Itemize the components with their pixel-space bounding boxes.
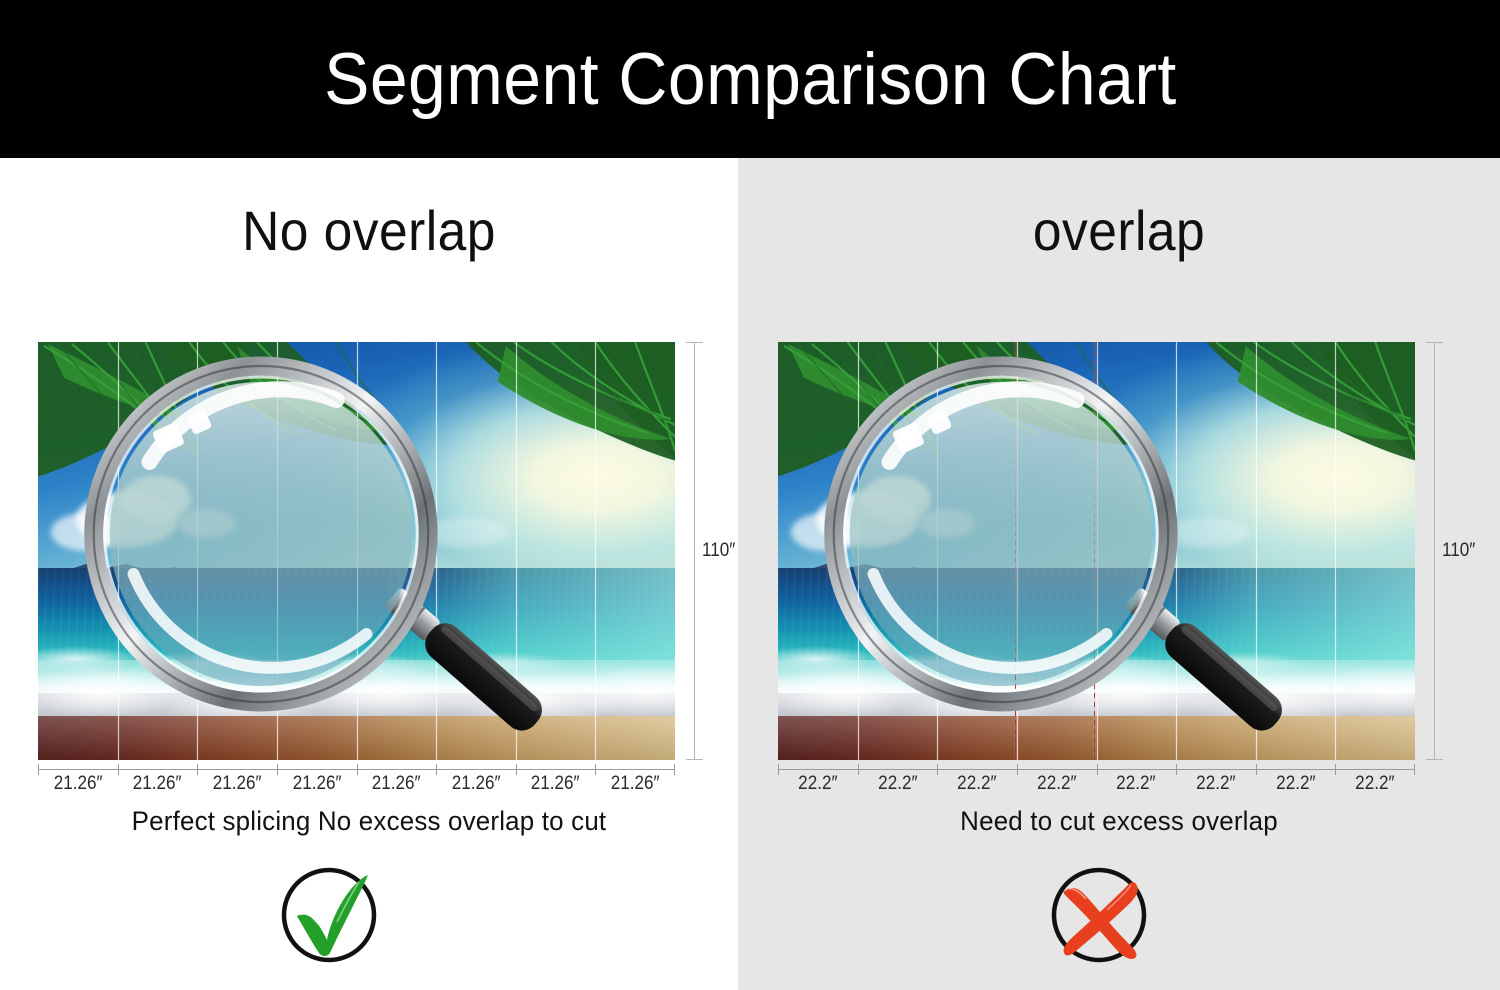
segment-label: 22.2″ [1276,774,1315,796]
segment-label: 21.26″ [213,774,262,796]
segment-divider [277,342,278,760]
segment-divider [516,342,517,760]
segment-divider [436,342,437,760]
verdict-overlap [718,858,1480,970]
segment-label: 22.2″ [1196,774,1235,796]
segment-label: 22.2″ [878,774,917,796]
height-label: 110″ [1442,540,1475,562]
segment-measure: 21.26″ [38,762,118,796]
title-bar: Segment Comparison Chart [0,0,1500,158]
width-ruler-overlap: 22.2″ 22.2″ 22.2″ 22.2″ 22.2″ 22.2″ 22.2… [778,762,1415,796]
segment-label: 22.2″ [798,774,837,796]
segment-measure: 21.26″ [357,762,437,796]
caption-overlap: Need to cut excess overlap [753,806,1485,837]
verdict-no-overlap [0,858,698,970]
segment-measure: 22.2″ [1256,762,1336,796]
segment-measure: 22.2″ [1017,762,1097,796]
cross-circle-icon [1043,858,1155,970]
ruler-cap-bottom [1426,759,1443,760]
segment-label: 21.26″ [452,774,501,796]
segment-dividers-right [778,342,1415,760]
mural-overlap [778,342,1415,760]
caption-no-overlap: Perfect splicing No excess overlap to cu… [15,806,723,837]
segment-label: 21.26″ [292,774,341,796]
segment-divider [197,342,198,760]
segment-measure: 22.2″ [778,762,858,796]
segment-label: 21.26″ [53,774,102,796]
segment-measure: 22.2″ [1176,762,1256,796]
segment-divider [118,342,119,760]
segment-measure: 21.26″ [118,762,198,796]
mural-image-right [778,342,1415,760]
segment-measure: 21.26″ [436,762,516,796]
segment-label: 22.2″ [1037,774,1076,796]
segment-measure: 22.2″ [937,762,1017,796]
segment-label: 22.2″ [957,774,996,796]
segment-dividers-left [38,342,675,760]
segment-divider [1176,342,1177,760]
panel-overlap: overlap [738,158,1500,990]
segment-measure: 22.2″ [1097,762,1177,796]
check-circle-icon [273,858,385,970]
segment-measure: 22.2″ [1335,762,1415,796]
segment-label: 22.2″ [1117,774,1156,796]
segment-label: 21.26″ [133,774,182,796]
mural-image-left [38,342,675,760]
segment-divider [1017,342,1018,760]
segment-measure: 21.26″ [516,762,596,796]
comparison-panels: No overlap [0,158,1500,990]
segment-measure: 21.26″ [277,762,357,796]
ruler-line [1434,342,1435,760]
segment-label: 22.2″ [1356,774,1395,796]
segment-divider [937,342,938,760]
ruler-cap-bottom [686,759,703,760]
page-title: Segment Comparison Chart [324,43,1177,116]
segment-label: 21.26″ [611,774,660,796]
segment-comparison-chart-page: Segment Comparison Chart No overlap [0,0,1500,990]
height-label: 110″ [702,540,735,562]
segment-divider [595,342,596,760]
overlap-marker [1015,342,1016,760]
segment-label: 21.26″ [372,774,421,796]
panel-heading-no-overlap: No overlap [30,198,709,263]
width-ruler-no-overlap: 21.26″ 21.26″ 21.26″ 21.26″ 21.26″ 21.26… [38,762,675,796]
segment-measure: 22.2″ [858,762,938,796]
segment-divider [858,342,859,760]
height-ruler-no-overlap: 110″ [682,342,726,760]
segment-divider [1256,342,1257,760]
panel-no-overlap: No overlap [0,158,738,990]
segment-divider [1335,342,1336,760]
segment-label: 21.26″ [531,774,580,796]
ruler-line [694,342,695,760]
segment-measure: 21.26″ [197,762,277,796]
panel-heading-overlap: overlap [768,198,1469,263]
height-ruler-overlap: 110″ [1422,342,1466,760]
segment-divider [1097,342,1098,760]
mural-no-overlap [38,342,675,760]
overlap-marker [1094,342,1095,760]
segment-measure: 21.26″ [595,762,675,796]
segment-divider [357,342,358,760]
